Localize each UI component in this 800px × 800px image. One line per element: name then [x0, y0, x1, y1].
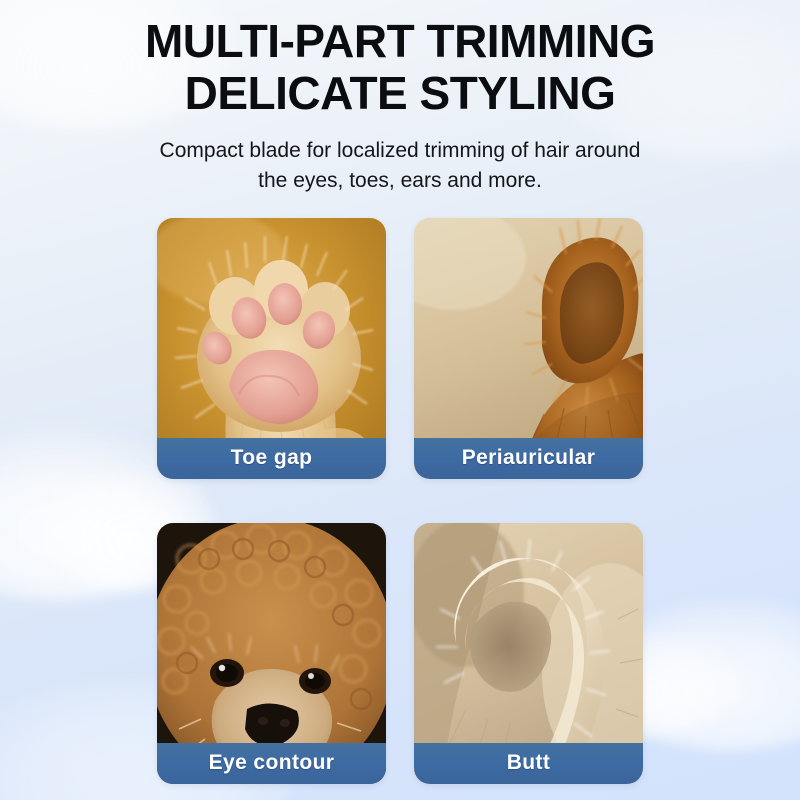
page-subtitle-line-1: Compact blade for localized trimming of …	[0, 136, 800, 166]
page-subtitle: Compact blade for localized trimming of …	[0, 136, 800, 196]
page-title-line-1: MULTI-PART TRIMMING	[0, 16, 800, 68]
feature-card-grid: Toe gap	[157, 218, 643, 784]
page-title-line-2: DELICATE STYLING	[0, 68, 800, 120]
card-label-band: Eye contour	[157, 743, 386, 784]
card-label-band: Butt	[414, 743, 643, 784]
feature-card-toe-gap[interactable]: Toe gap	[157, 218, 386, 479]
feature-card-eye-contour[interactable]: Eye contour	[157, 523, 386, 784]
card-label-text: Butt	[507, 751, 551, 775]
feature-card-periauricular[interactable]: Periauricular	[414, 218, 643, 479]
card-label-text: Periauricular	[462, 446, 596, 470]
card-label-text: Eye contour	[209, 751, 335, 775]
card-label-text: Toe gap	[231, 446, 313, 470]
card-label-band: Periauricular	[414, 438, 643, 479]
header: MULTI-PART TRIMMING DELICATE STYLING Com…	[0, 0, 800, 196]
feature-card-butt[interactable]: Butt	[414, 523, 643, 784]
page-subtitle-line-2: the eyes, toes, ears and more.	[0, 166, 800, 196]
card-label-band: Toe gap	[157, 438, 386, 479]
